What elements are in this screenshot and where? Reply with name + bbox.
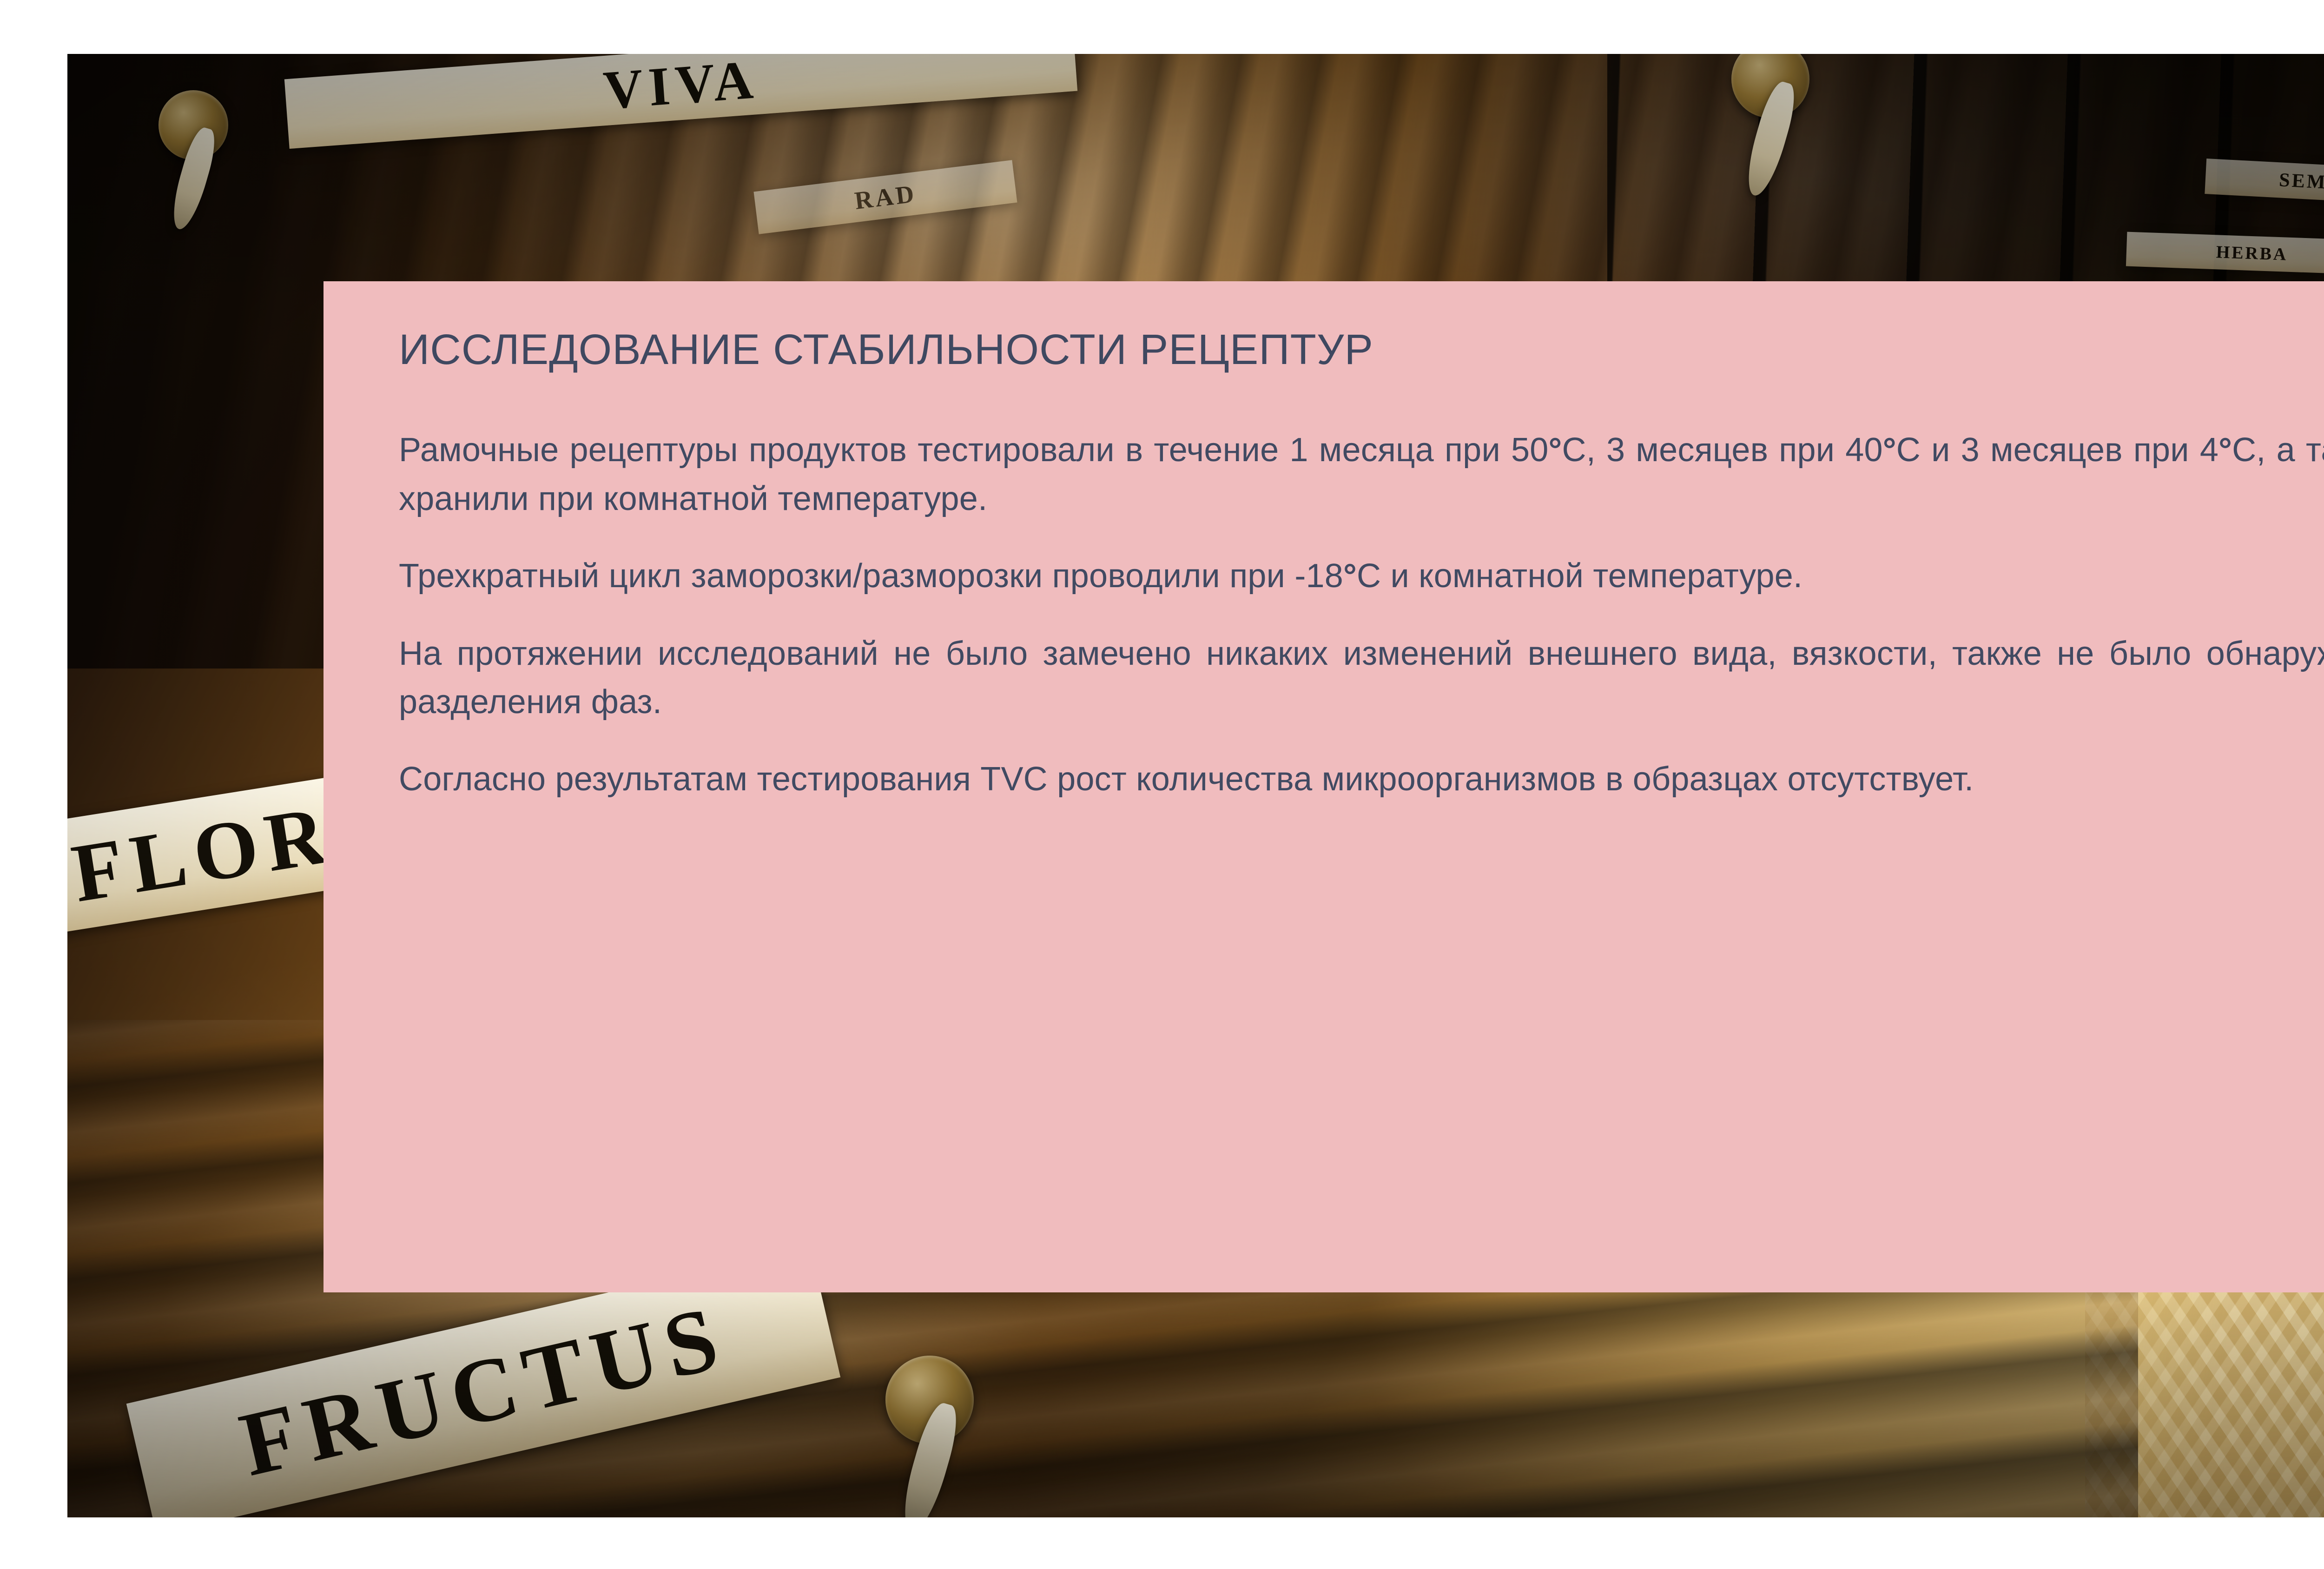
slide-frame-top xyxy=(0,0,2324,54)
slide-frame-bottom xyxy=(0,1517,2324,1569)
degree-symbol: ° xyxy=(1343,557,1357,595)
paragraph-text: С, 3 месяцев при 40 xyxy=(1562,431,1883,469)
paragraph-storage-conditions: Рамочные рецептуры продуктов тестировали… xyxy=(399,426,2324,523)
slide-canvas: VIVA RAD SEM HERBA FLOR FRUCTUS xyxy=(0,0,2324,1569)
degree-symbol: ° xyxy=(1883,431,1896,469)
slide-frame-left xyxy=(0,0,67,1569)
paragraph-freeze-thaw: Трехкратный цикл заморозки/разморозки пр… xyxy=(399,552,2324,600)
paragraph-text: Трехкратный цикл заморозки/разморозки пр… xyxy=(399,557,1343,595)
paragraph-text: Согласно результатам тестирования TVC ро… xyxy=(399,761,1974,798)
paragraph-text: Рамочные рецептуры продуктов тестировали… xyxy=(399,431,1549,469)
paragraph-text: С и 3 месяцев при 4 xyxy=(1896,431,2218,469)
degree-symbol: ° xyxy=(1549,431,1562,469)
page-title: ИССЛЕДОВАНИЕ СТАБИЛЬНОСТИ РЕЦЕПТУР xyxy=(399,327,2324,373)
paragraph-text: На протяжении исследований не было замеч… xyxy=(399,635,2324,721)
degree-symbol: ° xyxy=(2218,431,2232,469)
content-panel: ИССЛЕДОВАНИЕ СТАБИЛЬНОСТИ РЕЦЕПТУР Рамоч… xyxy=(324,281,2324,1292)
paragraph-appearance: На протяжении исследований не было замеч… xyxy=(399,629,2324,727)
paragraph-text: С и комнатной температуре. xyxy=(1357,557,1802,595)
paragraph-tvc: Согласно результатам тестирования TVC ро… xyxy=(399,755,2324,803)
